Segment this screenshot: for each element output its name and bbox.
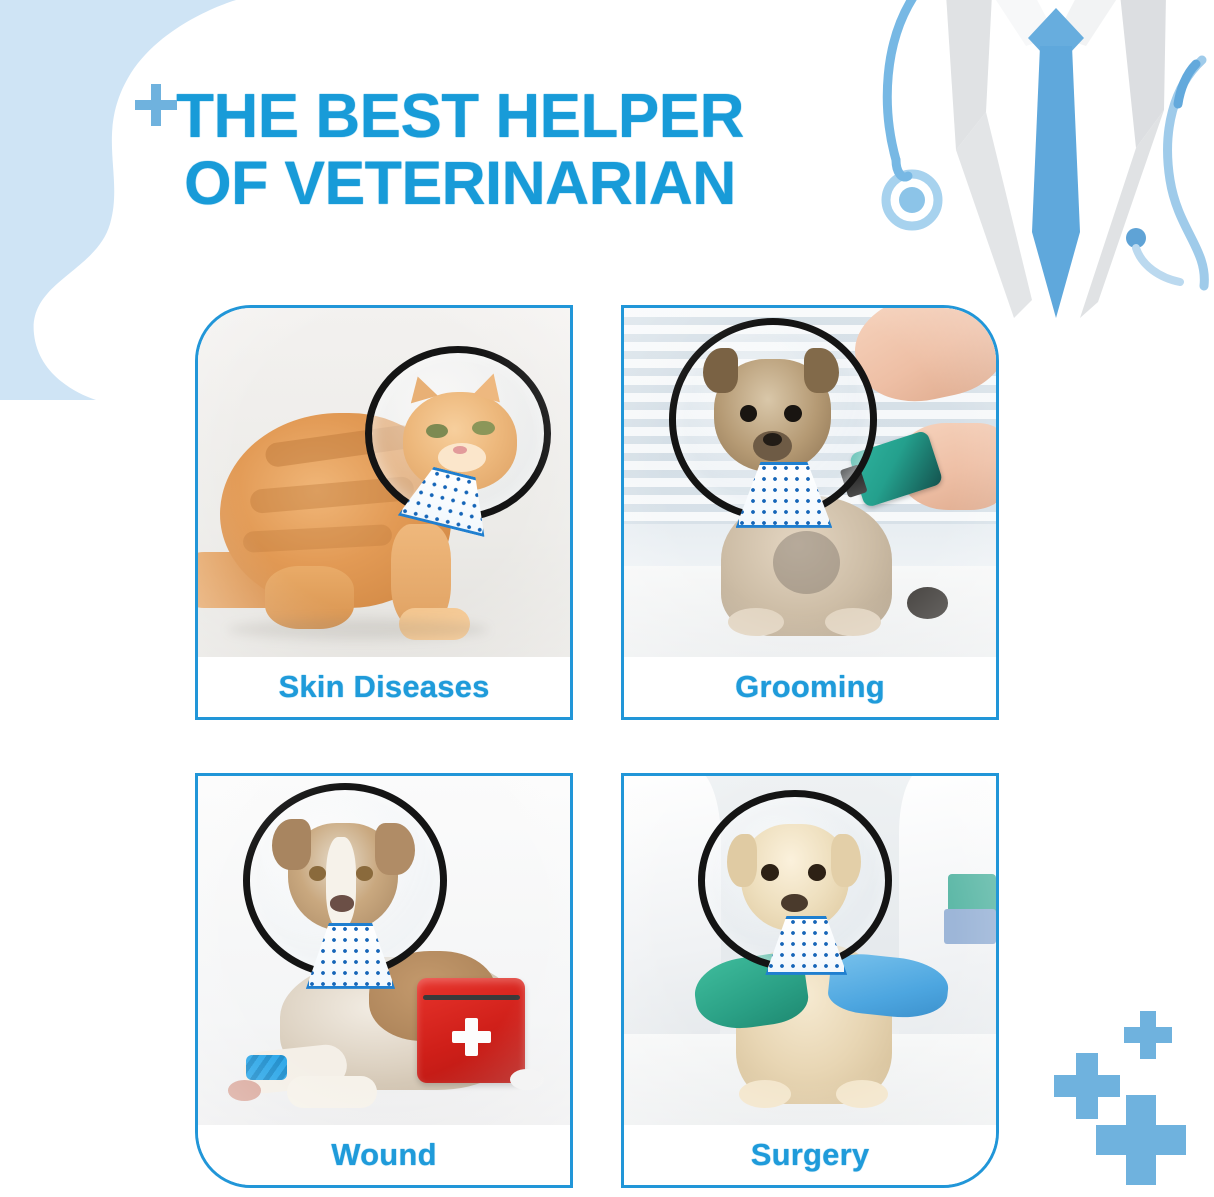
feature-card-grid: Skin Diseases <box>195 305 1021 1188</box>
card-photo-grooming <box>624 308 996 657</box>
card-photo-surgery <box>624 776 996 1125</box>
tie-body <box>1032 46 1080 318</box>
page-header: THE BEST HELPER OF VETERINARIAN <box>0 84 920 217</box>
stethoscope-tube-right <box>1168 60 1205 286</box>
plus-icon-medium <box>1054 1053 1120 1119</box>
infographic-page: THE BEST HELPER OF VETERINARIAN <box>0 0 1214 1197</box>
coat-lapel-left <box>946 0 992 150</box>
feature-card-grooming[interactable]: Grooming <box>621 305 999 720</box>
card-photo-skin-diseases <box>198 308 570 657</box>
coat-lapel-right <box>1120 0 1166 148</box>
feature-card-skin-diseases[interactable]: Skin Diseases <box>195 305 573 720</box>
card-label-surgery: Surgery <box>624 1125 996 1185</box>
card-photo-wound <box>198 776 570 1125</box>
feature-card-wound[interactable]: Wound <box>195 773 573 1188</box>
card-label-wound: Wound <box>198 1125 570 1185</box>
doctor-illustration <box>874 0 1214 320</box>
feature-card-surgery[interactable]: Surgery <box>621 773 999 1188</box>
plus-icon <box>135 84 177 126</box>
plus-icon-small <box>1124 1011 1172 1059</box>
bottom-right-plus-cluster <box>1030 997 1200 1187</box>
card-label-grooming: Grooming <box>624 657 996 717</box>
tie-knot <box>1028 8 1084 68</box>
card-label-skin-diseases: Skin Diseases <box>198 657 570 717</box>
plus-icon-large <box>1096 1095 1186 1185</box>
stethoscope-earpiece <box>1126 228 1146 248</box>
page-title-line-2: OF VETERINARIAN <box>0 151 920 217</box>
